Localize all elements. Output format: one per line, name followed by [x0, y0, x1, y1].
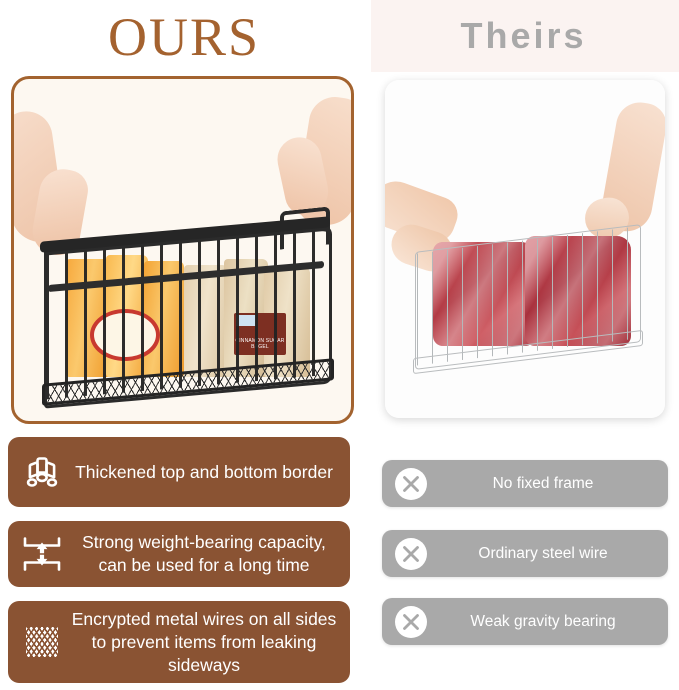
ours-product-photo: CINNAMON SUGAR BAGEL — [11, 76, 354, 424]
ours-title: OURS — [0, 6, 368, 68]
encrypted-mesh-wire-icon — [16, 627, 68, 657]
ours-panel: OURS — [0, 0, 368, 690]
cross-circle-icon — [392, 465, 430, 503]
comparison-infographic: OURS — [0, 0, 679, 690]
black-wire-basket: CINNAMON SUGAR BAGEL — [36, 209, 336, 399]
theirs-photo-scene — [385, 80, 665, 418]
drawback-bar-ordinary-steel-wire[interactable]: Ordinary steel wire — [382, 530, 668, 577]
drawback-label: Ordinary steel wire — [430, 544, 668, 564]
feature-label: Encrypted metal wires on all sides to pr… — [68, 608, 342, 677]
theirs-title: Theirs — [368, 14, 679, 58]
theirs-product-photo — [385, 80, 665, 418]
cross-circle-icon — [392, 603, 430, 641]
feature-label: Thickened top and bottom border — [68, 461, 342, 484]
cross-circle-icon — [392, 535, 430, 573]
thickened-border-rods-icon — [16, 452, 68, 492]
feature-bar-thickened-border[interactable]: Thickened top and bottom border — [8, 437, 350, 507]
silver-wire-basket — [407, 220, 647, 370]
feature-label: Strong weight-bearing capacity, can be u… — [68, 531, 342, 577]
feature-bar-weight-bearing[interactable]: Strong weight-bearing capacity, can be u… — [8, 521, 350, 587]
weight-bearing-compression-icon — [16, 533, 68, 575]
drawback-label: Weak gravity bearing — [430, 612, 668, 632]
drawback-label: No fixed frame — [430, 474, 668, 494]
feature-bar-encrypted-mesh[interactable]: Encrypted metal wires on all sides to pr… — [8, 601, 350, 683]
ours-photo-scene: CINNAMON SUGAR BAGEL — [14, 79, 351, 421]
drawback-bar-no-fixed-frame[interactable]: No fixed frame — [382, 460, 668, 507]
drawback-bar-weak-gravity-bearing[interactable]: Weak gravity bearing — [382, 598, 668, 645]
